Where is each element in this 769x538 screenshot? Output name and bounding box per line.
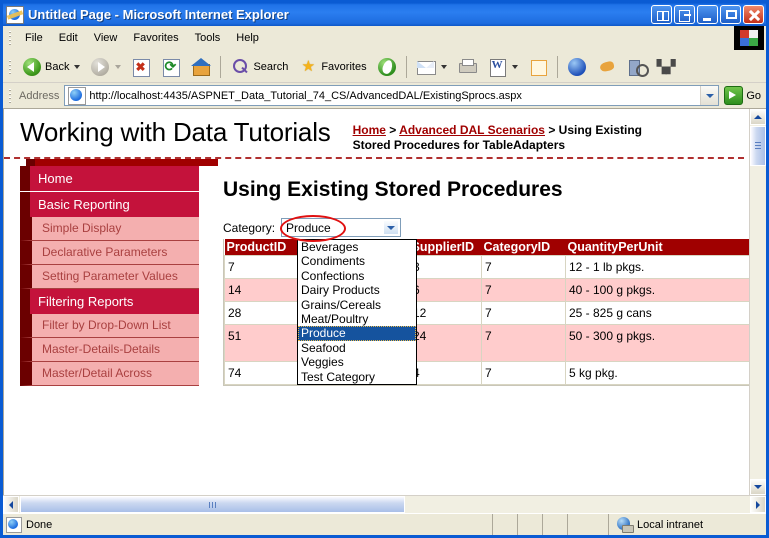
ie-document-icon [6, 6, 24, 24]
research-icon [627, 57, 647, 77]
restore-group-button[interactable] [651, 5, 672, 24]
column-header-categoryid[interactable]: CategoryID [482, 239, 566, 256]
cell-categoryid: 7 [482, 325, 566, 362]
sidebar-item-setting-parameter-values[interactable]: Setting Parameter Values [20, 265, 199, 289]
option-dairy-products[interactable]: Dairy Products [298, 283, 416, 297]
vertical-scroll-thumb[interactable] [750, 126, 766, 166]
address-label: Address [19, 90, 59, 102]
status-cell-2 [518, 514, 543, 535]
scroll-right-button[interactable] [750, 496, 766, 513]
category-filter-row: Category: Produce Beverages Condiments [223, 218, 744, 237]
vertical-scrollbar[interactable] [749, 109, 766, 495]
forward-icon [90, 57, 110, 77]
forward-history-caret-icon[interactable] [115, 65, 121, 69]
page-canvas: Working with Data Tutorials Home > Advan… [4, 109, 749, 495]
notes-icon [528, 57, 548, 77]
address-bar: Address http://localhost:4435/ASPNET_Dat… [3, 83, 766, 109]
go-label: Go [746, 90, 761, 102]
edit-word-button[interactable] [482, 55, 523, 79]
mail-icon [416, 57, 436, 77]
print-button[interactable] [452, 55, 482, 79]
menu-edit[interactable]: Edit [51, 29, 86, 47]
cell-productid: 7 [225, 256, 301, 279]
forward-button[interactable] [85, 55, 126, 79]
category-option-list[interactable]: Beverages Condiments Confections Dairy P… [297, 239, 417, 385]
column-header-supplierid[interactable]: SupplierID [410, 239, 482, 256]
column-header-productid[interactable]: ProductID [225, 239, 301, 256]
cell-quantityperunit: 40 - 100 g pkgs. [566, 279, 750, 302]
stop-icon [131, 57, 151, 77]
horizontal-scrollbar[interactable] [3, 495, 766, 513]
chevron-down-icon [706, 94, 714, 98]
accent-bar [26, 159, 218, 166]
sidebar-nav: Home Basic Reporting Simple Display Decl… [4, 166, 199, 391]
scroll-left-button[interactable] [3, 496, 19, 513]
favorites-label: Favorites [321, 61, 366, 73]
favorites-star-icon: ★ [298, 57, 318, 77]
status-bar: Done Local intranet [3, 513, 766, 535]
status-text: Done [26, 519, 52, 531]
cell-categoryid: 7 [482, 362, 566, 385]
status-page-icon [6, 517, 22, 533]
search-button[interactable]: Search [225, 55, 293, 79]
address-url-text: http://localhost:4435/ASPNET_Data_Tutori… [89, 90, 700, 102]
horizontal-scroll-thumb[interactable] [20, 496, 405, 513]
messenger-icon [567, 57, 587, 77]
option-grains-cereals[interactable]: Grains/Cereals [298, 298, 416, 312]
back-button[interactable]: Back [17, 55, 85, 79]
close-button[interactable] [743, 5, 764, 24]
favorites-button[interactable]: ★ Favorites [293, 55, 371, 79]
menu-file[interactable]: File [17, 29, 51, 47]
sidebar-item-home[interactable]: Home [20, 166, 199, 191]
status-cell-3 [543, 514, 568, 535]
menu-gripper[interactable] [7, 29, 14, 47]
sidebar-item-master-detail-across[interactable]: Master/Detail Across [20, 362, 199, 386]
cell-supplierid: 6 [410, 279, 482, 302]
cell-productid: 28 [225, 302, 301, 325]
breadcrumb: Home > Advanced DAL Scenarios > Using Ex… [353, 123, 653, 153]
cell-supplierid: 4 [410, 362, 482, 385]
window-controls [651, 5, 764, 24]
sidebar-item-simple-display[interactable]: Simple Display [20, 217, 199, 241]
cell-categoryid: 7 [482, 256, 566, 279]
media-icon [377, 57, 397, 77]
go-button[interactable]: Go [719, 86, 766, 105]
title-bar: Untitled Page - Microsoft Internet Explo… [3, 3, 766, 26]
encoding-icon: ▚▞ [657, 57, 677, 77]
exit-group-button[interactable] [674, 5, 695, 24]
status-cell-4 [568, 514, 609, 535]
cell-supplierid: 12 [410, 302, 482, 325]
option-beverages[interactable]: Beverages [298, 240, 416, 254]
sidebar-item-declarative-parameters[interactable]: Declarative Parameters [20, 241, 199, 265]
minimize-button[interactable] [697, 5, 718, 24]
toolbar-separator-3 [557, 56, 558, 78]
search-label: Search [253, 61, 288, 73]
menu-bar: File Edit View Favorites Tools Help [3, 26, 766, 51]
scroll-down-button[interactable] [750, 479, 766, 495]
option-seafood[interactable]: Seafood [298, 341, 416, 355]
sidebar-item-filtering-reports[interactable]: Filtering Reports [20, 289, 199, 314]
cell-categoryid: 7 [482, 302, 566, 325]
chevron-down-icon [754, 485, 762, 489]
sidebar-item-master-details-details[interactable]: Master-Details-Details [20, 338, 199, 362]
toolbar-separator-2 [406, 56, 407, 78]
cell-quantityperunit: 5 kg pkg. [566, 362, 750, 385]
page-viewport: Working with Data Tutorials Home > Advan… [3, 109, 766, 495]
toolbar-separator [220, 56, 221, 78]
chevron-down-icon [387, 226, 395, 230]
encoding-button[interactable]: ▚▞ [652, 55, 682, 79]
scroll-grip-icon [209, 502, 217, 508]
breadcrumb-sep-2: > [545, 123, 559, 137]
toolbar-gripper[interactable] [7, 58, 14, 76]
option-veggies[interactable]: Veggies [298, 355, 416, 369]
msn-icon [597, 57, 617, 77]
search-icon [230, 57, 250, 77]
page-favicon-icon [68, 87, 86, 105]
web-page: Working with Data Tutorials Home > Advan… [4, 109, 744, 495]
option-produce[interactable]: Produce [298, 326, 416, 340]
home-button[interactable] [186, 55, 216, 79]
vertical-scroll-track[interactable] [750, 166, 766, 479]
zone-text: Local intranet [637, 519, 703, 531]
page-header: Working with Data Tutorials Home > Advan… [4, 109, 744, 153]
cell-quantityperunit: 25 - 825 g cans [566, 302, 750, 325]
sidebar-item-basic-reporting[interactable]: Basic Reporting [20, 192, 199, 217]
edit-caret-icon[interactable] [512, 65, 518, 69]
zone-globe-icon [617, 517, 632, 532]
back-history-caret-icon[interactable] [74, 65, 80, 69]
browser-toolbar: Back Search ★ Favorites [3, 51, 766, 83]
option-confections[interactable]: Confections [298, 269, 416, 283]
status-cell-1 [493, 514, 518, 535]
maximize-button[interactable] [720, 5, 741, 24]
cell-quantityperunit: 12 - 1 lb pkgs. [566, 256, 750, 279]
chevron-right-icon [756, 501, 760, 509]
scroll-grip-icon [755, 142, 761, 150]
category-dropdown-button[interactable] [383, 220, 399, 235]
cell-categoryid: 7 [482, 279, 566, 302]
mail-button[interactable] [411, 55, 452, 79]
home-icon [191, 57, 211, 77]
media-button[interactable] [372, 55, 402, 79]
breadcrumb-section-link[interactable]: Advanced DAL Scenarios [399, 123, 545, 137]
back-icon [22, 57, 42, 77]
category-selected-value: Produce [282, 221, 331, 235]
window-title: Untitled Page - Microsoft Internet Explo… [28, 7, 289, 22]
site-title: Working with Data Tutorials [4, 117, 331, 148]
category-dropdown[interactable]: Produce [281, 218, 401, 237]
option-meat-poultry[interactable]: Meat/Poultry [298, 312, 416, 326]
cell-supplierid: 3 [410, 256, 482, 279]
column-header-quantityperunit[interactable]: QuantityPerUnit [566, 239, 750, 256]
cell-supplierid: 24 [410, 325, 482, 362]
status-message-panel: Done [3, 514, 493, 535]
refresh-button[interactable] [156, 55, 186, 79]
back-label: Back [45, 61, 69, 73]
cell-productid: 14 [225, 279, 301, 302]
breadcrumb-sep-1: > [386, 123, 399, 137]
browser-window: Untitled Page - Microsoft Internet Explo… [0, 0, 769, 538]
ie-brand-logo [734, 26, 764, 50]
address-input[interactable]: http://localhost:4435/ASPNET_Data_Tutori… [64, 85, 719, 106]
stop-button[interactable] [126, 55, 156, 79]
refresh-icon [161, 57, 181, 77]
option-condiments[interactable]: Condiments [298, 254, 416, 268]
cell-productid: 51 [225, 325, 301, 362]
menu-view[interactable]: View [86, 29, 126, 47]
mail-caret-icon[interactable] [441, 65, 447, 69]
cell-productid: 74 [225, 362, 301, 385]
menu-help[interactable]: Help [228, 29, 267, 47]
sidebar-item-filter-by-dropdown-list[interactable]: Filter by Drop-Down List [20, 314, 199, 338]
research-button[interactable] [622, 55, 652, 79]
page-title: Using Existing Stored Procedures [223, 178, 744, 202]
chevron-left-icon [9, 501, 13, 509]
msn-button[interactable] [592, 55, 622, 79]
scroll-up-button[interactable] [750, 109, 766, 125]
edit-word-icon [487, 57, 507, 77]
category-label: Category: [223, 221, 275, 235]
messenger-button[interactable] [562, 55, 592, 79]
menu-favorites[interactable]: Favorites [125, 29, 186, 47]
print-icon [457, 57, 477, 77]
option-test-category[interactable]: Test Category [298, 370, 416, 384]
cell-quantityperunit: 50 - 300 g pkgs. [566, 325, 750, 362]
menu-tools[interactable]: Tools [187, 29, 229, 47]
breadcrumb-home-link[interactable]: Home [353, 123, 386, 137]
go-arrow-icon [724, 86, 743, 105]
main-content: Using Existing Stored Procedures Categor… [199, 166, 744, 391]
horizontal-scroll-track[interactable] [405, 496, 750, 513]
page-body: Home Basic Reporting Simple Display Decl… [4, 166, 744, 391]
chevron-up-icon [754, 115, 762, 119]
address-dropdown-button[interactable] [700, 86, 718, 105]
address-gripper[interactable] [7, 87, 14, 105]
notes-button[interactable] [523, 55, 553, 79]
security-zone-panel[interactable]: Local intranet [609, 517, 766, 532]
